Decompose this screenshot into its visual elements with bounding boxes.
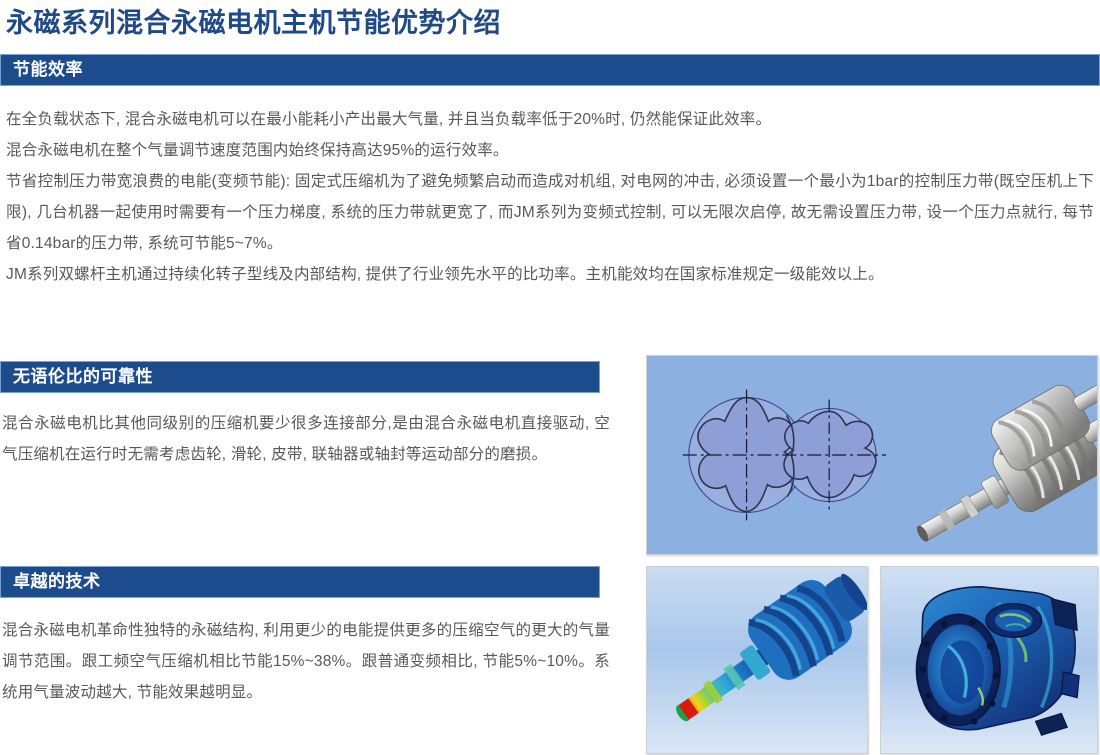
figure-rotor-profile-and-screw-rotor bbox=[646, 355, 1098, 555]
paragraph: 混合永磁电机革命性独特的永磁结构, 利用更少的电能提供更多的压缩空气的更大的气量… bbox=[2, 615, 610, 708]
paragraph: 在全负载状态下, 混合永磁电机可以在最小能耗小产出最大气量, 并且当负载率低于2… bbox=[6, 104, 1094, 135]
section-header-reliability: 无语伦比的可靠性 bbox=[0, 361, 600, 393]
section-header-energy-efficiency: 节能效率 bbox=[0, 54, 1100, 86]
figure-fea-rotor-analysis bbox=[646, 566, 868, 754]
rotor-profile-illustration bbox=[647, 356, 1097, 554]
section-header-technology: 卓越的技术 bbox=[0, 566, 600, 598]
section-body-technology: 混合永磁电机革命性独特的永磁结构, 利用更少的电能提供更多的压缩空气的更大的气量… bbox=[2, 615, 610, 708]
paragraph: JM系列双螺杆主机通过持续化转子型线及内部结构, 提供了行业领先水平的比功率。主… bbox=[6, 259, 1094, 290]
section-header-label: 节能效率 bbox=[1, 55, 83, 85]
page-title: 永磁系列混合永磁电机主机节能优势介绍 bbox=[6, 4, 1086, 42]
fea-housing-illustration bbox=[881, 567, 1097, 753]
figure-fea-housing-analysis bbox=[880, 566, 1098, 754]
fea-rotor-illustration bbox=[647, 567, 867, 753]
paragraph: 节省控制压力带宽浪费的电能(变频节能): 固定式压缩机为了避免频繁启动而造成对机… bbox=[6, 166, 1094, 259]
section-header-label: 卓越的技术 bbox=[1, 567, 101, 597]
section-header-label: 无语伦比的可靠性 bbox=[1, 362, 153, 392]
paragraph: 混合永磁电机比其他同级别的压缩机要少很多连接部分,是由混合永磁电机直接驱动, 空… bbox=[2, 408, 610, 470]
section-body-reliability: 混合永磁电机比其他同级别的压缩机要少很多连接部分,是由混合永磁电机直接驱动, 空… bbox=[2, 408, 610, 470]
paragraph: 混合永磁电机在整个气量调节速度范围内始终保持高达95%的运行效率。 bbox=[6, 135, 1094, 166]
section-body-energy-efficiency: 在全负载状态下, 混合永磁电机可以在最小能耗小产出最大气量, 并且当负载率低于2… bbox=[6, 104, 1094, 290]
page-root: 永磁系列混合永磁电机主机节能优势介绍 节能效率 在全负载状态下, 混合永磁电机可… bbox=[0, 0, 1100, 755]
